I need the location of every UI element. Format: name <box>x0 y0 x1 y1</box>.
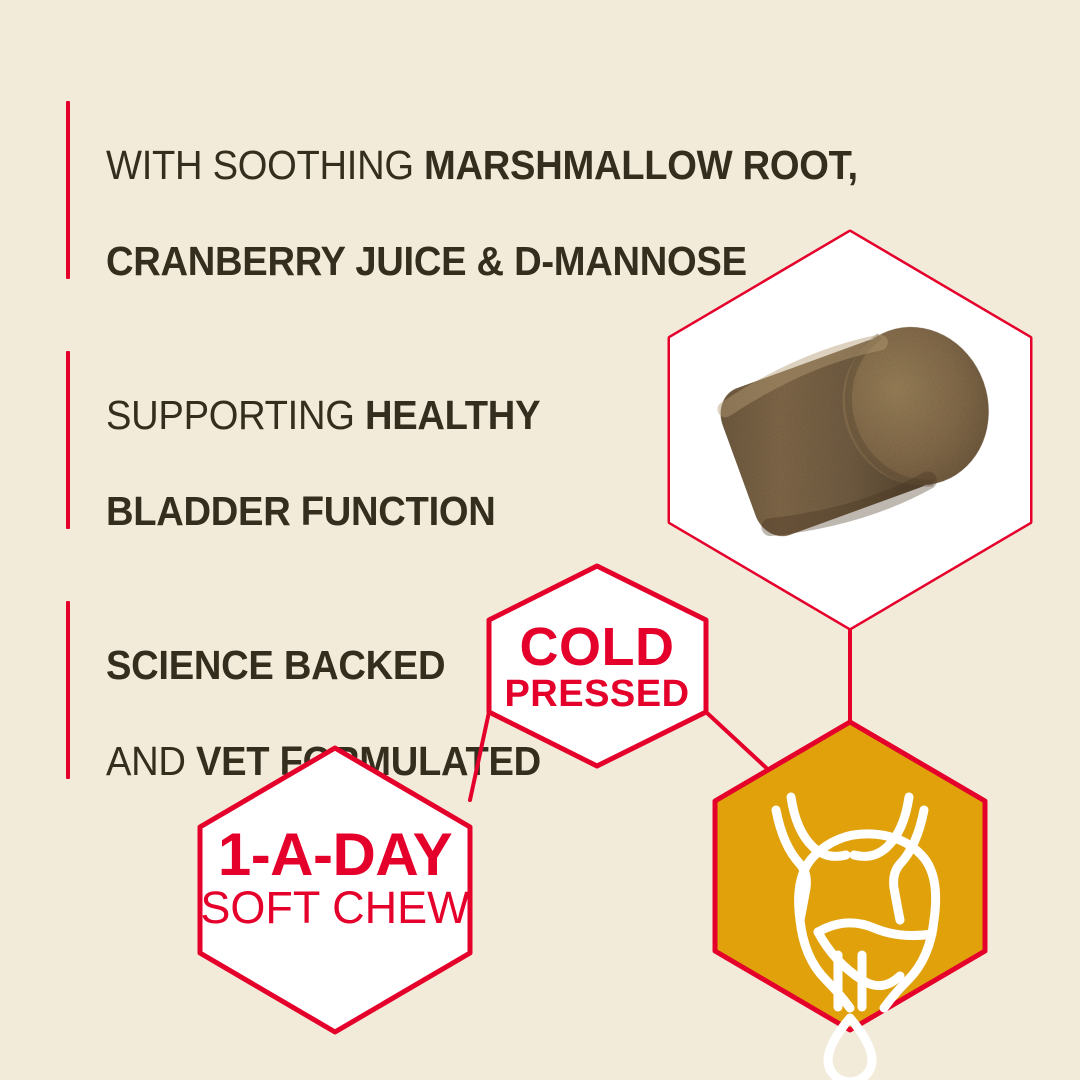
infographic-canvas: WITH SOOTHING MARSHMALLOW ROOT, CRANBERR… <box>0 0 1080 1080</box>
one-a-day-line1: 1-A-DAY <box>218 821 453 888</box>
connector-cold-to-oneaday <box>470 712 489 800</box>
one-a-day-line2: SOFT CHEW <box>200 882 470 933</box>
badge-bladder-icon[interactable] <box>715 722 985 1080</box>
connector-cold-to-bladder <box>706 712 775 776</box>
cold-pressed-line2: PRESSED <box>504 673 689 715</box>
badge-cold-pressed[interactable]: COLD PRESSED <box>489 566 706 766</box>
badge-one-a-day[interactable]: 1-A-DAY SOFT CHEW <box>200 748 470 1032</box>
cold-pressed-line1: COLD <box>520 617 675 677</box>
hexagon-badge-cluster: COLD PRESSED 1-A-DAY SOFT CHEW <box>0 0 1080 1080</box>
bladder-hexagon-shape <box>715 722 985 1030</box>
badge-product-photo <box>670 232 1030 628</box>
